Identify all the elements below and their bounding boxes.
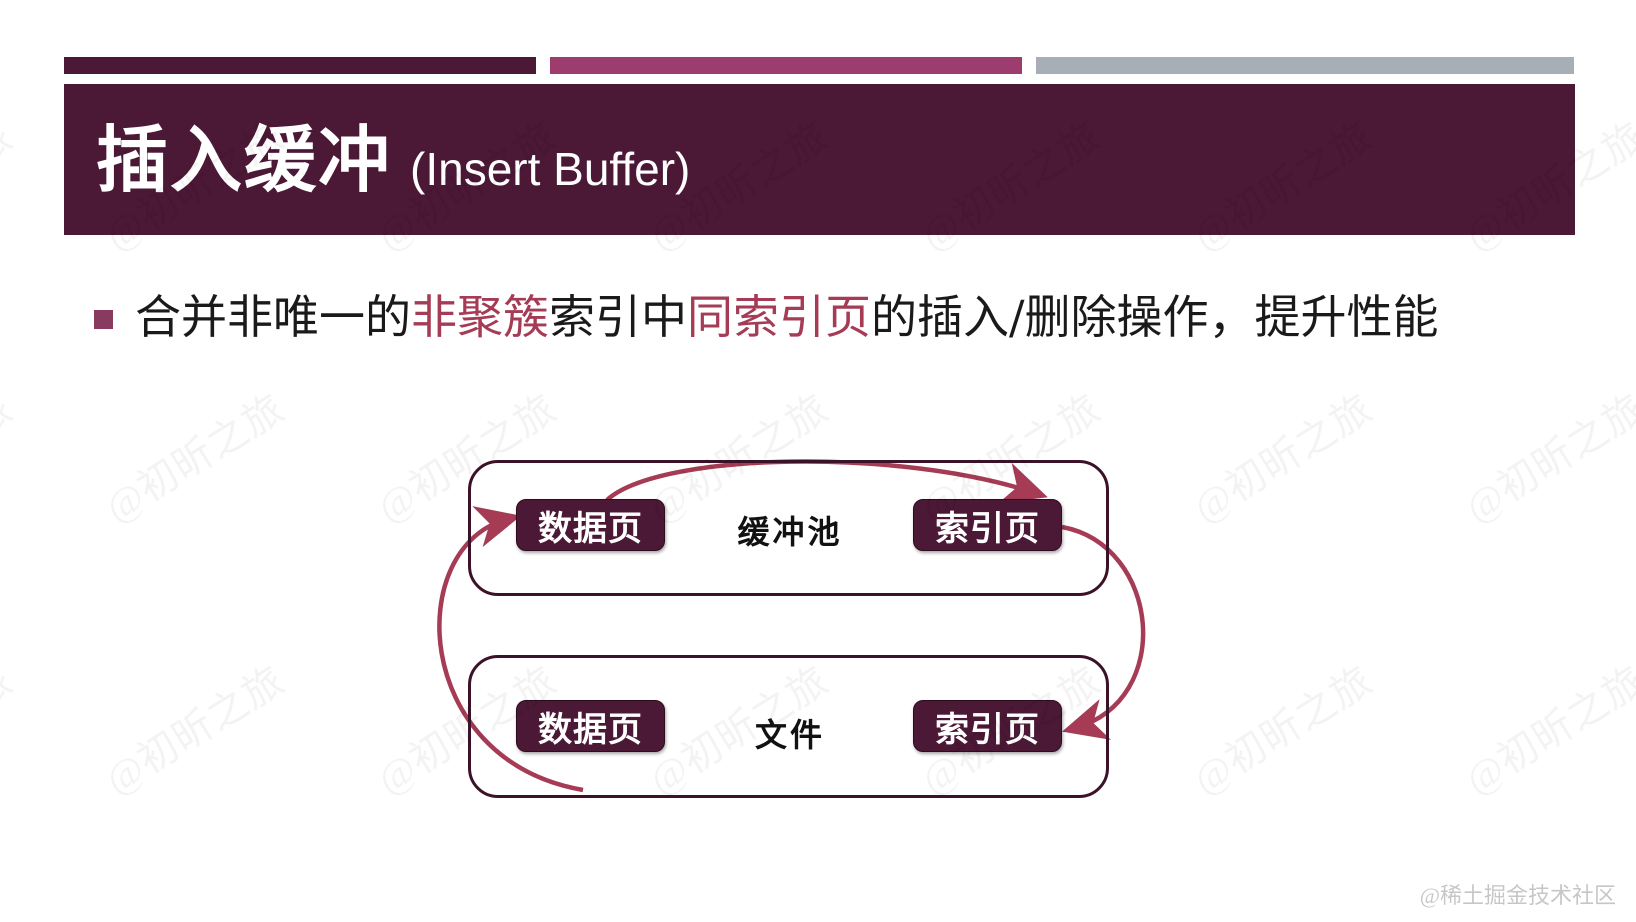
watermark-corner: @稀土掘金技术社区 [1420,878,1616,910]
file-label: 文件 [700,710,880,756]
buffer-pool-data-page: 数据页 [516,499,665,551]
file-index-page: 索引页 [913,700,1062,752]
buffer-pool-index-page: 索引页 [913,499,1062,551]
buffer-pool-label: 缓冲池 [700,507,880,553]
file-data-page: 数据页 [516,700,665,752]
slide-canvas: 插入缓冲 (Insert Buffer) 合并非唯一的非聚簇索引中同索引页的插入… [0,0,1636,922]
